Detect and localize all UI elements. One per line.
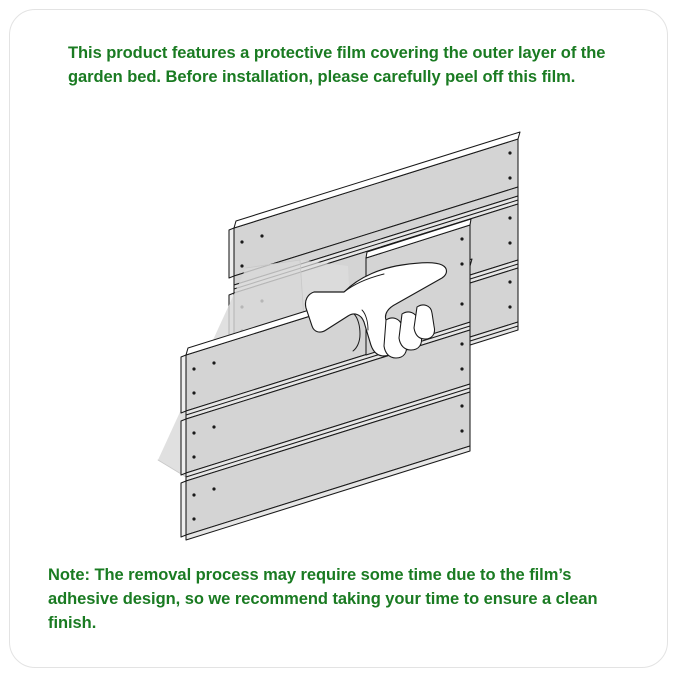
intro-instruction-text: This product features a protective film … (68, 41, 620, 89)
hand-finger-3 (414, 305, 435, 339)
upper-board-1-left-flange (229, 228, 234, 278)
lower-board-2-left-flange (181, 419, 186, 475)
footer-note-text: Note: The removal process may require so… (48, 563, 628, 635)
lower-board-3-left-flange (181, 481, 186, 537)
lower-board-1-left-flange (181, 355, 186, 413)
peel-film-illustration (10, 108, 667, 568)
instruction-card: This product features a protective film … (9, 9, 668, 668)
